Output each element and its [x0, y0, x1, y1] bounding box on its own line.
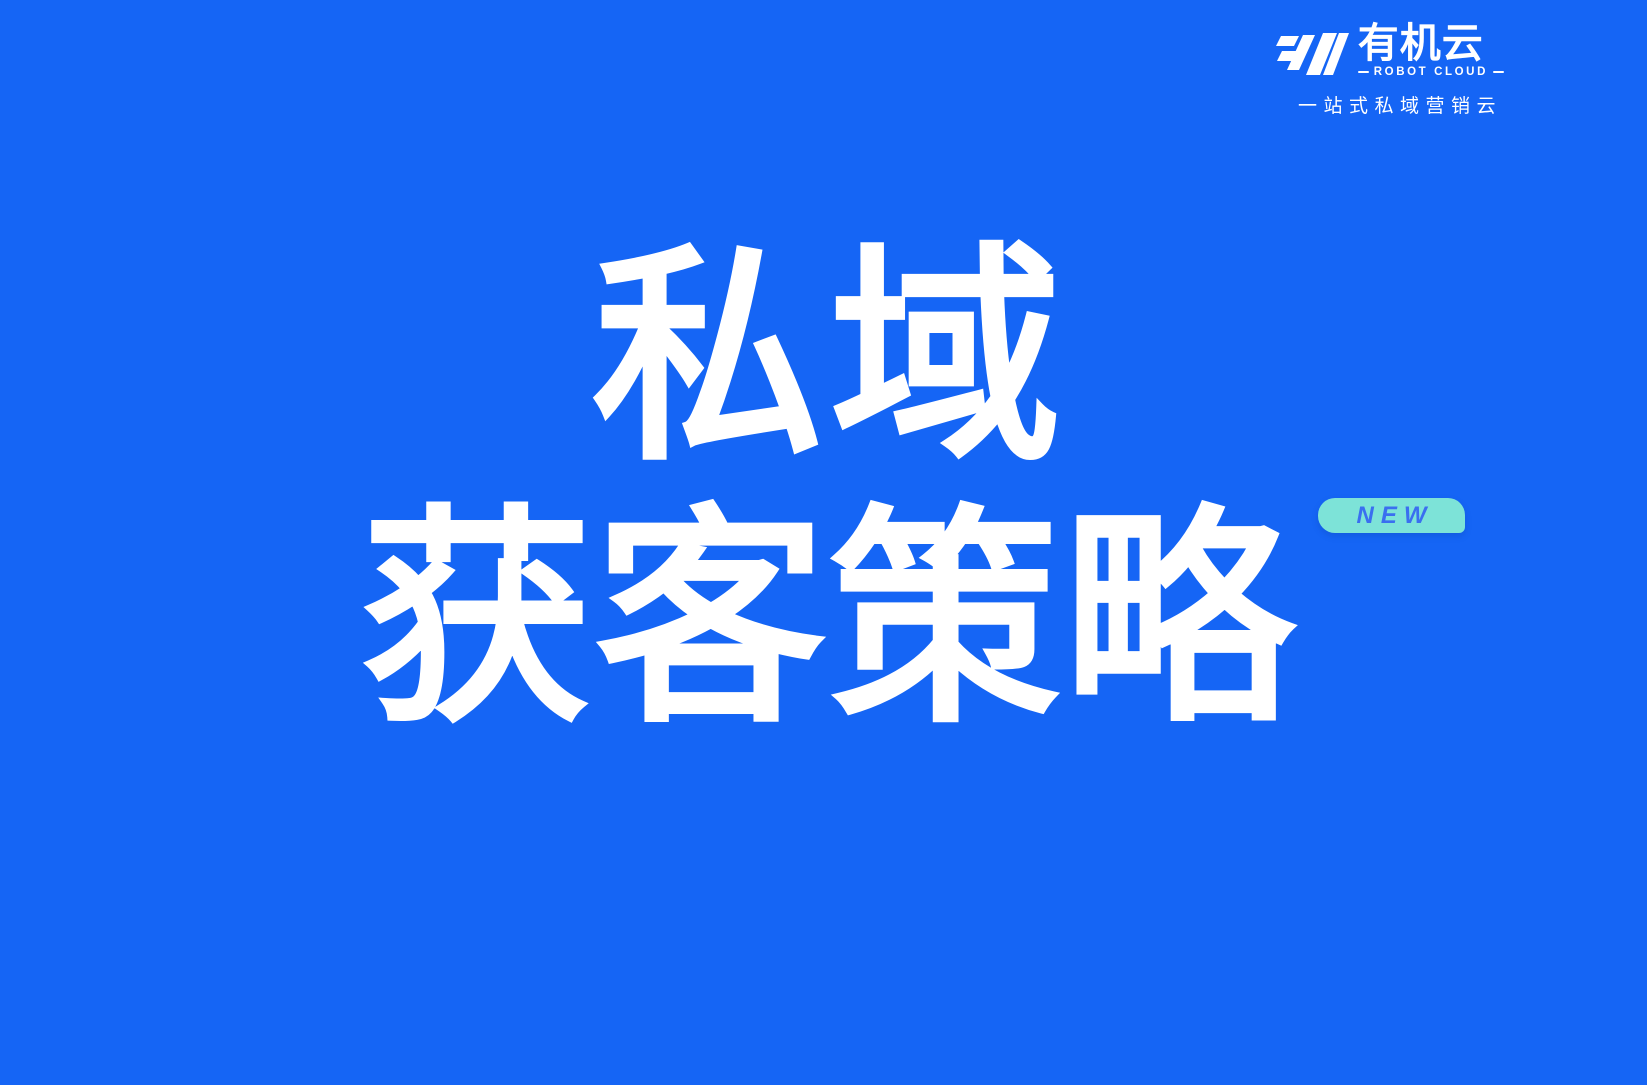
- brand-name-cn: 有机云: [1358, 24, 1504, 63]
- headline: 私域 获客策略: [0, 243, 1647, 737]
- brand-lockup: 有机云 ROBOT CLOUD: [1275, 26, 1504, 78]
- brand-block: 有机云 ROBOT CLOUD 一站式私域营销云: [1275, 26, 1504, 118]
- headline-line-2: 获客策略: [360, 505, 1296, 737]
- poster-canvas: 有机云 ROBOT CLOUD 一站式私域营销云 私域 获客策略 NEW: [0, 0, 1647, 1085]
- brand-rule-right-icon: [1493, 71, 1504, 73]
- brand-tagline: 一站式私域营销云: [1298, 91, 1504, 118]
- headline-line-1: 私域: [591, 243, 1067, 475]
- brand-rule-left-icon: [1358, 71, 1369, 73]
- youjiyun-logo-mark-icon: [1275, 30, 1349, 78]
- new-badge-label: NEW: [1350, 504, 1434, 528]
- new-badge: NEW: [1318, 498, 1465, 533]
- brand-name-en-row: ROBOT CLOUD: [1358, 67, 1504, 79]
- brand-name-en: ROBOT CLOUD: [1374, 67, 1488, 79]
- brand-wordmark: 有机云 ROBOT CLOUD: [1358, 24, 1504, 78]
